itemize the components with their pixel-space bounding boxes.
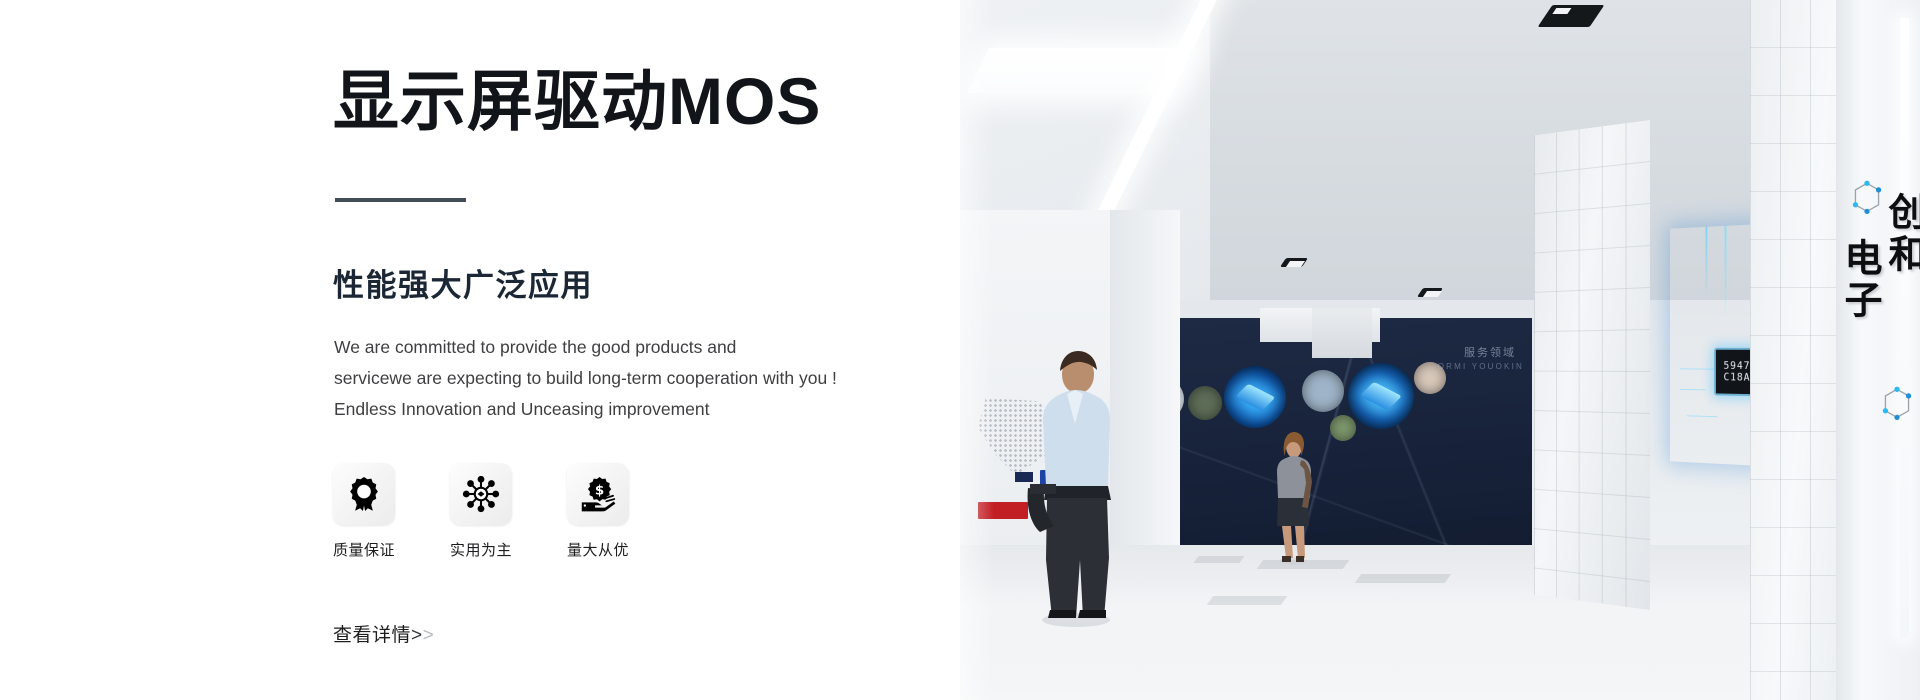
view-details-label: 查看详情 bbox=[333, 625, 411, 646]
floor-inlay bbox=[1193, 556, 1244, 563]
skylight-panel-light bbox=[967, 48, 1194, 93]
feature-tile bbox=[333, 463, 395, 525]
feature-item-quality[interactable]: 质量保证 bbox=[333, 463, 395, 560]
svg-text:$: $ bbox=[595, 483, 604, 498]
description-line-2: servicewe are expecting to build long-te… bbox=[334, 363, 894, 394]
ceiling-spotlight bbox=[1280, 258, 1308, 267]
ceiling-plane bbox=[960, 0, 1920, 330]
foreground-wall bbox=[960, 210, 1165, 640]
led-display-screen: 5947 C18A bbox=[1670, 220, 1840, 470]
exhibit-chip-circle bbox=[1224, 366, 1286, 428]
brand-sign-column-left: 电子 bbox=[1840, 238, 1878, 322]
network-hub-icon bbox=[462, 475, 500, 513]
foreground-wall-edge bbox=[1110, 210, 1180, 650]
wall-info-panel-blue bbox=[1040, 470, 1082, 488]
feature-list: 质量保证 bbox=[333, 463, 629, 560]
hero-banner: 显示屏驱动MOS 性能强大广泛应用 We are committed to pr… bbox=[0, 0, 1920, 700]
ceiling-bulkhead bbox=[1312, 308, 1372, 358]
feature-item-practical[interactable]: 实用为主 bbox=[450, 463, 512, 560]
wall-label-dark bbox=[1015, 472, 1033, 482]
chip-graphic: 5947 C18A bbox=[1714, 348, 1760, 396]
ceiling-soffit bbox=[960, 0, 1210, 350]
feature-label: 实用为主 bbox=[450, 539, 512, 560]
page-subtitle: 性能强大广泛应用 bbox=[333, 270, 593, 301]
hexagon-molecule-icon bbox=[1850, 180, 1884, 218]
floor-inlay bbox=[1257, 560, 1350, 569]
floor-inlay bbox=[1207, 596, 1288, 605]
ceiling-spotlight bbox=[1417, 288, 1443, 297]
exhibit-wall-heading-en: ORMI YOUOKIN bbox=[1438, 362, 1524, 371]
ceiling-spotlight bbox=[1538, 5, 1605, 27]
person-businessman bbox=[1020, 338, 1130, 628]
view-details-link[interactable]: 查看详情>> bbox=[333, 620, 434, 647]
hand-money-icon: $ bbox=[579, 475, 617, 513]
ceiling-spotlight bbox=[963, 262, 990, 270]
feature-label: 质量保证 bbox=[333, 539, 395, 560]
page-title: 显示屏驱动MOS bbox=[333, 68, 821, 134]
photo-left-fade bbox=[960, 0, 994, 700]
feature-tile: $ bbox=[567, 463, 629, 525]
exhibit-wall-heading-cn: 服务领域 bbox=[1464, 344, 1516, 360]
screen-light-streaks bbox=[1670, 220, 1840, 470]
banner-text-pane: 显示屏驱动MOS 性能强大广泛应用 We are committed to pr… bbox=[0, 0, 960, 700]
ceiling-bulkhead bbox=[1260, 308, 1380, 342]
brand-signage: 创和 电子 bbox=[1844, 190, 1920, 420]
embossed-tile-wall bbox=[1534, 120, 1650, 610]
floor-reflection bbox=[960, 580, 1920, 700]
chip-code-line-2: C18A bbox=[1724, 372, 1751, 384]
vertical-light-strip bbox=[1900, 18, 1909, 638]
exhibition-wall: 服务领域 ORMI YOUOKIN bbox=[1152, 318, 1532, 550]
feature-tile bbox=[450, 463, 512, 525]
award-ribbon-icon bbox=[345, 475, 383, 513]
exhibit-photo-circle bbox=[1302, 370, 1344, 412]
description-line-1: We are committed to provide the good pro… bbox=[334, 332, 894, 363]
ceiling-spotlight bbox=[1537, 208, 1584, 224]
linear-led-strip bbox=[970, 0, 1229, 480]
chip-code-line-1: 5947 bbox=[1724, 360, 1751, 372]
exhibit-photo-circle bbox=[1330, 415, 1356, 441]
exhibit-chip-circle bbox=[1348, 363, 1414, 429]
chevron-primary-icon: > bbox=[411, 625, 423, 646]
screen-light-streaks bbox=[1670, 220, 1840, 470]
person-woman bbox=[1267, 430, 1319, 565]
hexagon-molecule-icon bbox=[1880, 386, 1914, 424]
embossed-tile-wall bbox=[1750, 0, 1880, 700]
floor-plane bbox=[960, 545, 1920, 700]
back-wall bbox=[960, 300, 1920, 560]
exhibit-photo-circle bbox=[1142, 378, 1184, 420]
dotted-map-graphic bbox=[978, 398, 1074, 476]
wall-pillar bbox=[1836, 0, 1920, 700]
exhibit-photo-circle bbox=[1188, 386, 1222, 420]
map-route-lines bbox=[1152, 318, 1532, 550]
glowing-chip-graphic bbox=[1360, 382, 1402, 410]
title-divider bbox=[335, 198, 466, 202]
feature-item-bulk-discount[interactable]: $ 量大从优 bbox=[567, 463, 629, 560]
chevron-secondary-icon: > bbox=[423, 625, 435, 646]
feature-label: 量大从优 bbox=[567, 539, 629, 560]
brand-sign-column-right: 创和 bbox=[1884, 192, 1920, 276]
wall-info-panel-red bbox=[978, 502, 1028, 519]
description-paragraph: We are committed to provide the good pro… bbox=[334, 332, 894, 425]
glowing-chip-graphic bbox=[1235, 384, 1275, 411]
description-line-3: Endless Innovation and Unceasing improve… bbox=[334, 394, 894, 425]
showroom-interior-photo: 服务领域 ORMI YOUOKIN bbox=[960, 0, 1920, 700]
exhibit-photo-circle bbox=[1414, 362, 1446, 394]
floor-inlay bbox=[1355, 574, 1452, 583]
